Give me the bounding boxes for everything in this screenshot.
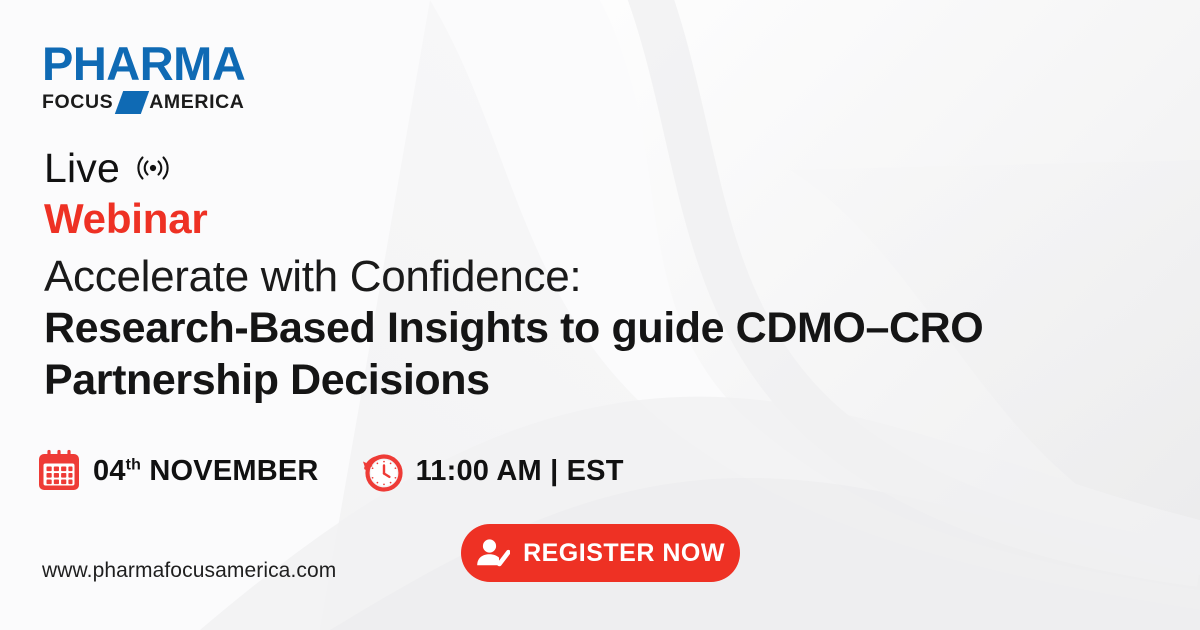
logo-wordmark-pharma: PHARMA: [42, 40, 302, 87]
live-row: Live: [44, 146, 208, 190]
clock-icon: [359, 448, 405, 494]
event-time: 11:00 AM | EST: [359, 448, 624, 494]
logo-subline: FOCUS AMERICA: [42, 91, 302, 114]
webinar-banner: PHARMA FOCUS AMERICA Live Webinar Accele…: [0, 0, 1200, 630]
logo-slash-icon: [115, 91, 149, 114]
logo-word-focus: FOCUS: [42, 93, 113, 113]
event-date-ordinal: th: [126, 456, 141, 473]
event-meta-row: 04th NOVEMBER: [36, 448, 624, 494]
headline-block: Accelerate with Confidence: Research-Bas…: [44, 252, 1134, 407]
broadcast-icon: [130, 151, 176, 185]
live-webinar-eyebrow: Live Webinar: [44, 146, 208, 240]
live-label: Live: [44, 148, 120, 189]
brand-logo[interactable]: PHARMA FOCUS AMERICA: [42, 40, 302, 110]
register-now-label: REGISTER NOW: [523, 541, 725, 566]
event-date-day: 04: [93, 455, 126, 487]
logo-word-america: AMERICA: [149, 93, 244, 113]
event-date: 04th NOVEMBER: [36, 448, 319, 494]
event-time-text: 11:00 AM | EST: [416, 457, 624, 486]
headline-line-3: Partnership Decisions: [44, 354, 1134, 406]
event-date-month: NOVEMBER: [149, 455, 318, 487]
headline-line-1: Accelerate with Confidence:: [44, 252, 1134, 302]
headline-line-2: Research-Based Insights to guide CDMO–CR…: [44, 302, 1134, 354]
webinar-label: Webinar: [44, 198, 208, 240]
user-check-icon: [476, 538, 510, 568]
website-url[interactable]: www.pharmafocusamerica.com: [42, 560, 336, 581]
calendar-icon: [36, 448, 82, 494]
event-date-text: 04th NOVEMBER: [93, 457, 319, 486]
register-now-button[interactable]: REGISTER NOW: [461, 524, 740, 582]
